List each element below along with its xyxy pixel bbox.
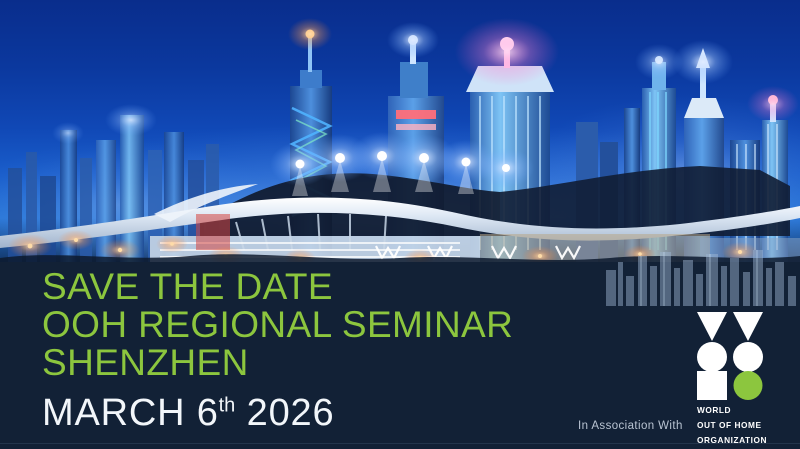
circle-icon (697, 342, 727, 372)
headline-block: SAVE THE DATE OOH REGIONAL SEMINAR SHENZ… (42, 268, 602, 433)
event-date-day: 6 (197, 392, 219, 434)
headline-line-shenzhen: SHENZHEN (42, 344, 602, 382)
in-association-with-label: In Association With (578, 420, 683, 432)
event-date-ordinal: th (219, 394, 236, 416)
skyline-illustration (0, 0, 800, 266)
skyline-silhouette-graphic (600, 248, 800, 306)
event-poster: SAVE THE DATE OOH REGIONAL SEMINAR SHENZ… (0, 0, 800, 449)
headline-line-save-the-date: SAVE THE DATE (42, 268, 602, 306)
headline-line-ooh-regional-seminar: OOH REGIONAL SEMINAR (42, 306, 602, 344)
event-date-month: MARCH (42, 392, 185, 434)
bottom-divider-line (0, 443, 800, 444)
circle-icon (733, 342, 763, 372)
circle-green-icon (734, 371, 763, 400)
woo-logo-mark-icon (697, 312, 763, 400)
woo-logo-line-world: WORLD (697, 405, 765, 415)
triangle-down-icon (733, 312, 763, 341)
square-icon (697, 371, 727, 400)
woo-logo-line-out-of-home: OUT OF HOME (697, 420, 765, 430)
woo-logo: WORLD OUT OF HOME ORGANIZATION (697, 312, 765, 446)
woo-logo-line-organization: ORGANIZATION (697, 435, 765, 445)
triangle-down-icon (697, 312, 727, 341)
city-skyline-photo (0, 0, 800, 266)
event-date: MARCH 6th 2026 (42, 393, 602, 433)
event-date-year: 2026 (247, 392, 335, 434)
